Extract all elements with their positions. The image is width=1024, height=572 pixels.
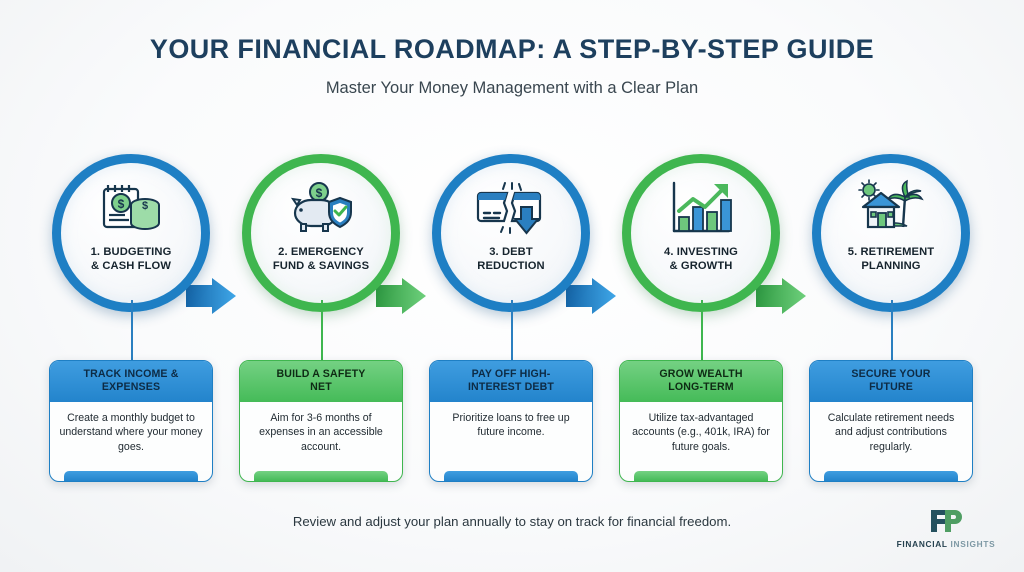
svg-text:$: $ bbox=[118, 197, 125, 211]
card-heading-3: PAY OFF HIGH-INTEREST DEBT bbox=[430, 361, 592, 402]
connector-line-3 bbox=[511, 300, 513, 360]
detail-card-3[interactable]: PAY OFF HIGH-INTEREST DEBT Prioritize lo… bbox=[429, 360, 593, 482]
svg-text:$: $ bbox=[142, 200, 148, 212]
card-heading-1: TRACK INCOME &EXPENSES bbox=[50, 361, 212, 402]
broken-credit-card-down-arrow-icon bbox=[475, 178, 547, 240]
card-body-3: Prioritize loans to free up future incom… bbox=[430, 402, 592, 471]
card-body-5: Calculate retirement needs and adjust co… bbox=[810, 402, 972, 471]
piggy-bank-shield-icon: $ bbox=[285, 178, 357, 240]
step-circle-3-debt-reduction[interactable]: 3. DEBTREDUCTION bbox=[432, 154, 590, 312]
step-label-5: 5. RETIREMENTPLANNING bbox=[832, 246, 950, 273]
step-label-3: 3. DEBTREDUCTION bbox=[452, 246, 570, 273]
header: YOUR FINANCIAL ROADMAP: A STEP-BY-STEP G… bbox=[0, 0, 1024, 98]
step-circle-4-investing[interactable]: 4. INVESTING& GROWTH bbox=[622, 154, 780, 312]
step-label-4: 4. INVESTING& GROWTH bbox=[642, 246, 760, 273]
card-heading-5: SECURE YOURFUTURE bbox=[810, 361, 972, 402]
detail-card-2[interactable]: BUILD A SAFETYNET Aim for 3-6 months of … bbox=[239, 360, 403, 482]
card-body-1: Create a monthly budget to understand wh… bbox=[50, 402, 212, 471]
card-footer-tab-5 bbox=[824, 471, 958, 481]
detail-cards: TRACK INCOME &EXPENSES Create a monthly … bbox=[0, 360, 1024, 485]
step-label-1: 1. BUDGETING& CASH FLOW bbox=[72, 246, 190, 273]
card-footer-tab-3 bbox=[444, 471, 578, 481]
card-body-4: Utilize tax-advantaged accounts (e.g., 4… bbox=[620, 402, 782, 471]
svg-text:$: $ bbox=[316, 186, 323, 200]
detail-card-1[interactable]: TRACK INCOME &EXPENSES Create a monthly … bbox=[49, 360, 213, 482]
step-circle-1-budgeting[interactable]: $ $ 1. BUDGETING& CASH FLOW bbox=[52, 154, 210, 312]
card-heading-4: GROW WEALTHLONG-TERM bbox=[620, 361, 782, 402]
footer-note: Review and adjust your plan annually to … bbox=[0, 514, 1024, 529]
house-sun-palm-tree-icon bbox=[855, 178, 927, 240]
connector-line-4 bbox=[701, 300, 703, 360]
step-label-2: 2. EMERGENCYFUND & SAVINGS bbox=[262, 246, 380, 273]
brand-logo: FINANCIAL INSIGHTS bbox=[890, 506, 1002, 549]
card-footer-tab-4 bbox=[634, 471, 768, 481]
card-heading-2: BUILD A SAFETYNET bbox=[240, 361, 402, 402]
detail-card-5[interactable]: SECURE YOURFUTURE Calculate retirement n… bbox=[809, 360, 973, 482]
step-circle-2-emergency-fund[interactable]: $ 2. EMERGENCYFUND & SAVINGS bbox=[242, 154, 400, 312]
connector-line-1 bbox=[131, 300, 133, 360]
card-body-2: Aim for 3-6 months of expenses in an acc… bbox=[240, 402, 402, 471]
bar-chart-growth-arrow-icon bbox=[665, 178, 737, 240]
card-footer-tab-1 bbox=[64, 471, 198, 481]
page-subtitle: Master Your Money Management with a Clea… bbox=[0, 79, 1024, 98]
fp-monogram-icon bbox=[890, 506, 1002, 536]
step-circle-5-retirement[interactable]: 5. RETIREMENTPLANNING bbox=[812, 154, 970, 312]
page-title: YOUR FINANCIAL ROADMAP: A STEP-BY-STEP G… bbox=[0, 34, 1024, 65]
card-footer-tab-2 bbox=[254, 471, 388, 481]
brand-logo-text: FINANCIAL INSIGHTS bbox=[890, 539, 1002, 549]
connector-line-5 bbox=[891, 300, 893, 360]
detail-card-4[interactable]: GROW WEALTHLONG-TERM Utilize tax-advanta… bbox=[619, 360, 783, 482]
connector-line-2 bbox=[321, 300, 323, 360]
notepad-dollar-coins-icon: $ $ bbox=[95, 178, 167, 240]
